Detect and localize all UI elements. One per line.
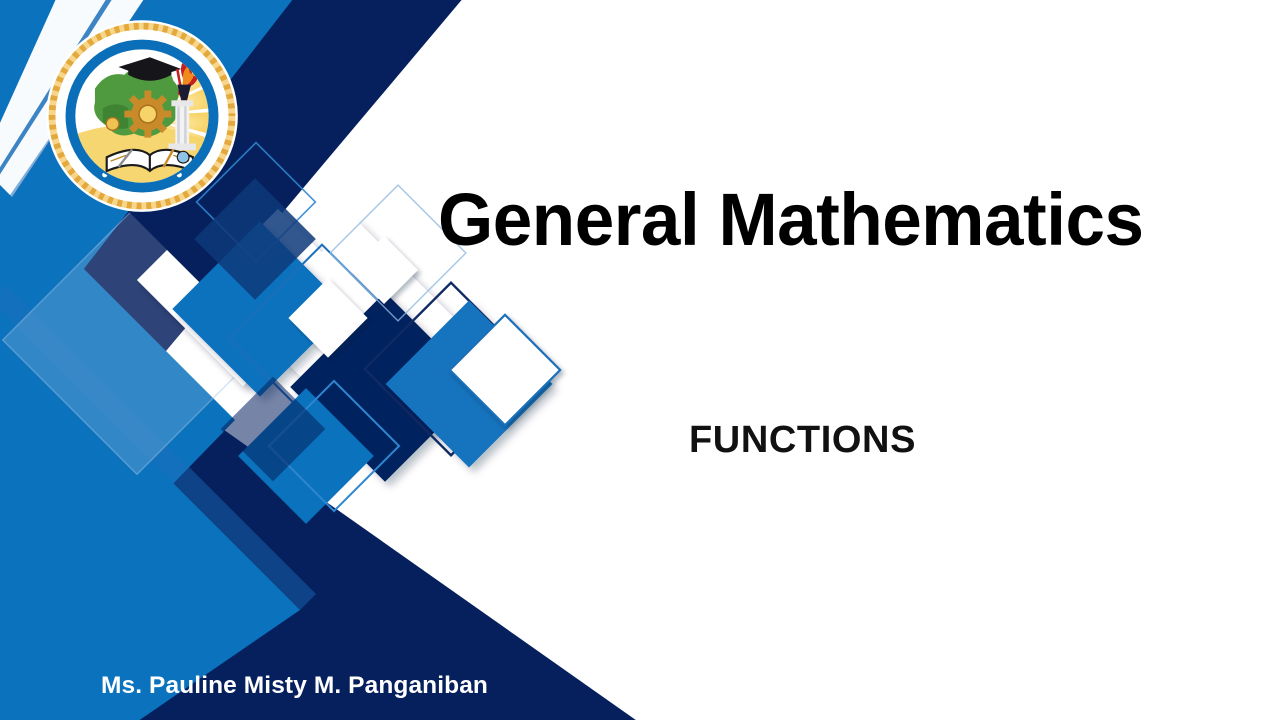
subtitle-block: FUNCTIONS	[0, 421, 1280, 459]
medallion-icon	[106, 118, 119, 131]
presentation-slide: BALAYAN SENIOR HIGH SCHOOL 2016	[0, 0, 1280, 720]
gear-icon	[124, 91, 171, 138]
presenter-name: Ms. Pauline Misty M. Panganiban	[101, 672, 488, 700]
slide-subtitle: FUNCTIONS	[689, 421, 916, 459]
title-block: General Mathematics	[0, 183, 1280, 257]
page-title: General Mathematics	[438, 183, 1144, 257]
